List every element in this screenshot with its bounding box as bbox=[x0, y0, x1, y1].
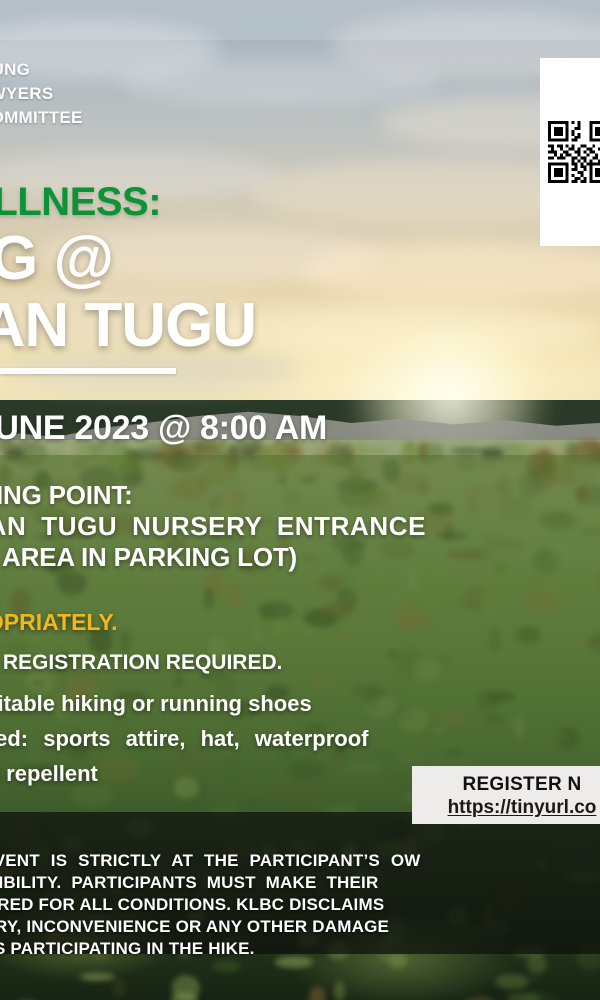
title-underline-rule bbox=[0, 368, 176, 374]
admission-note: ISSION. REGISTRATION REQUIRED. bbox=[0, 650, 600, 676]
foliage-speck bbox=[507, 992, 541, 1000]
disclaimer-body: N IN THIS EVENT IS STRICTLY AT THE PARTI… bbox=[0, 850, 600, 960]
disclaimer-line-3: ND BE PREPARED FOR ALL CONDITIONS. KLBC … bbox=[0, 894, 600, 916]
meeting-point-block: EETING POINT: AMAN TUGU NURSERY ENTRANCE… bbox=[0, 480, 600, 573]
logo-line-3: COMMITTEE bbox=[0, 106, 158, 130]
event-poster: OUNG AWYERS COMMITTEE bbox=[0, 0, 600, 1000]
logo-line-2: AWYERS bbox=[0, 82, 158, 106]
organisation-logo: OUNG AWYERS COMMITTEE bbox=[0, 58, 158, 130]
meeting-point-detail: EST AREA IN PARKING LOT) bbox=[0, 542, 600, 573]
foliage-speck bbox=[80, 973, 115, 981]
poster-title: WELLNESS: ING @ MAN TUGU bbox=[0, 180, 600, 358]
foliage-speck bbox=[334, 981, 345, 1000]
logo-line-1: OUNG bbox=[0, 58, 158, 82]
disclaimer-heading: : bbox=[0, 822, 308, 842]
disclaimer-line-2: OF RESPONSIBILITY. PARTICIPANTS MUST MAK… bbox=[0, 872, 600, 894]
foliage-speck bbox=[495, 974, 529, 989]
title-line-2: MAN TUGU bbox=[0, 293, 600, 358]
foliage-speck bbox=[212, 961, 241, 972]
title-line-1: ING @ bbox=[0, 226, 600, 291]
top-tint-band bbox=[0, 0, 600, 40]
disclaimer-line-4: T, LOSS, INJURY, INCONVENIENCE OR ANY OT… bbox=[0, 916, 600, 938]
attire-line-2: ended: sports attire, hat, waterproof bbox=[0, 721, 600, 756]
foliage-speck bbox=[528, 974, 539, 983]
meeting-point-venue: AMAN TUGU NURSERY ENTRANCE bbox=[0, 511, 600, 542]
foliage-speck bbox=[358, 447, 389, 454]
attire-line-1: : Suitable hiking or running shoes bbox=[0, 686, 600, 721]
foliage-speck bbox=[463, 996, 497, 1000]
foliage-speck bbox=[172, 975, 200, 1000]
title-kicker: WELLNESS: bbox=[0, 180, 600, 224]
disclaimer-line-5: PARTICIPANTS PARTICIPATING IN THE HIKE. bbox=[0, 938, 600, 960]
foliage-speck bbox=[112, 977, 126, 998]
event-date-time: 4 JUNE 2023 @ 8:00 AM bbox=[0, 408, 600, 448]
foliage-speck bbox=[309, 986, 326, 1000]
meeting-point-label: EETING POINT: bbox=[0, 480, 600, 511]
registration-link[interactable]: https://tinyurl.co bbox=[412, 796, 600, 820]
disclaimer-line-1: N IN THIS EVENT IS STRICTLY AT THE PARTI… bbox=[0, 850, 600, 872]
register-now-box[interactable]: REGISTER N https://tinyurl.co bbox=[412, 766, 600, 824]
dress-code-note: APPROPRIATELY. bbox=[0, 608, 600, 636]
register-now-label: REGISTER N bbox=[412, 773, 600, 796]
